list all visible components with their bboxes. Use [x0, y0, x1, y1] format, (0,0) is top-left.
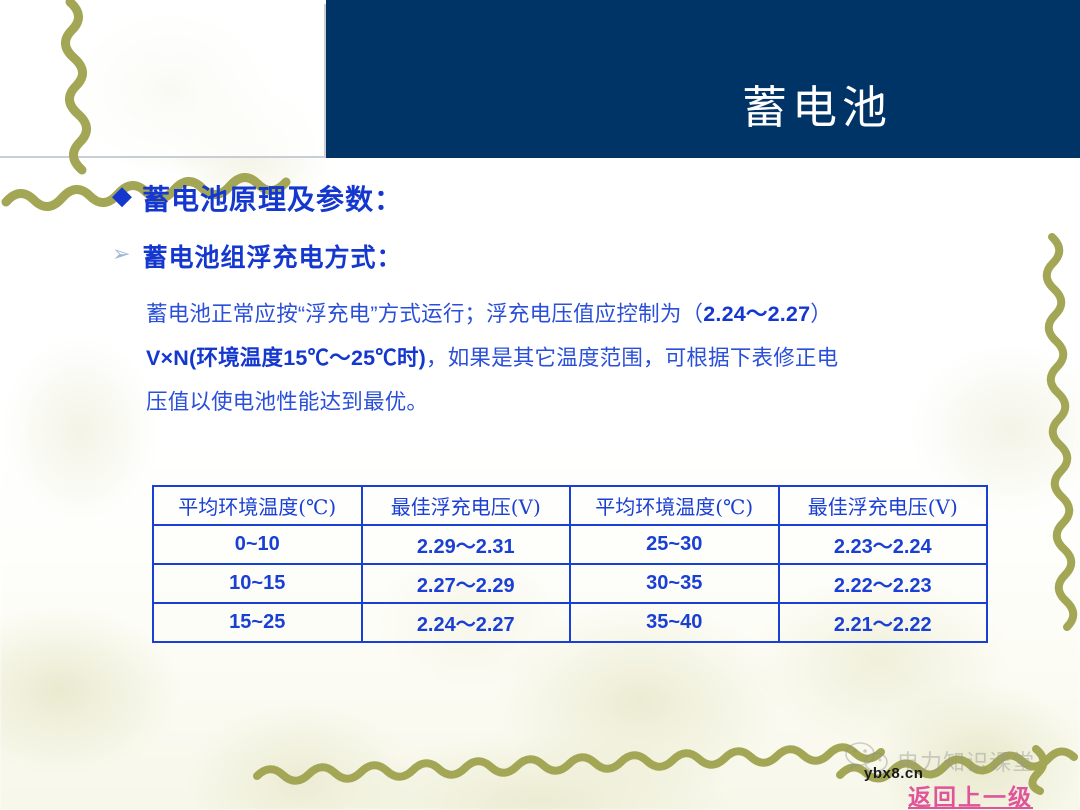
table-cell: 2.22～2.23	[779, 564, 988, 603]
table-cell: 10~15	[153, 564, 362, 603]
table-cell: 2.29～2.31	[362, 525, 571, 564]
paragraph-line-2-a: V×N(	[146, 346, 196, 370]
table-cell: 25~30	[570, 525, 779, 564]
paragraph-line-2-f: ℃时)	[375, 346, 426, 370]
slide-content: ◆ 蓄电池原理及参数： ➢ 蓄电池组浮充电方式： 蓄电池正常应按“浮充电”方式运…	[0, 158, 1080, 424]
back-link[interactable]: 返回上一级	[908, 778, 1033, 810]
paragraph-line-2-c: 15	[283, 346, 307, 370]
paragraph-line-2-e: 25	[351, 346, 375, 370]
paragraph-line-2: V×N(环境温度15℃～25℃时)，如果是其它温度范围，可根据下表修正电	[146, 336, 1042, 380]
voltage-range-highlight: 2.24～2.27	[703, 302, 810, 326]
arrow-bullet-icon: ➢	[112, 243, 130, 265]
paragraph-line-1-c: ）	[810, 302, 832, 326]
slide-canvas: 蓄电池 ◆ 蓄电池原理及参数： ➢ 蓄电池组浮充电方式： 蓄电池正常应按“浮充电…	[0, 0, 1080, 810]
table-header-cell: 平均环境温度(℃)	[153, 486, 362, 525]
table-cell: 30~35	[570, 564, 779, 603]
heading-level1: ◆ 蓄电池原理及参数：	[112, 178, 1080, 218]
voltage-table-wrapper: 平均环境温度(℃) 最佳浮充电压(V) 平均环境温度(℃) 最佳浮充电压(V) …	[152, 485, 988, 643]
paragraph-line-1: 蓄电池正常应按“浮充电”方式运行；浮充电压值应控制为（2.24～2.27）	[146, 292, 1042, 336]
table-cell: 0~10	[153, 525, 362, 564]
table-header-cell: 最佳浮充电压(V)	[362, 486, 571, 525]
vine-bottom-edge-icon	[255, 760, 905, 790]
title-banner: 蓄电池	[326, 0, 1080, 158]
table-row: 15~25 2.24～2.27 35~40 2.21～2.22	[153, 603, 987, 642]
corner-decor-panel	[0, 4, 326, 158]
paragraph-line-1-a: 蓄电池正常应按“浮充电”方式运行；浮充电压值应控制为（	[146, 302, 703, 326]
table-row: 10~15 2.27～2.29 30~35 2.22～2.23	[153, 564, 987, 603]
voltage-correction-table: 平均环境温度(℃) 最佳浮充电压(V) 平均环境温度(℃) 最佳浮充电压(V) …	[152, 485, 988, 643]
table-header-row: 平均环境温度(℃) 最佳浮充电压(V) 平均环境温度(℃) 最佳浮充电压(V)	[153, 486, 987, 525]
body-paragraph: 蓄电池正常应按“浮充电”方式运行；浮充电压值应控制为（2.24～2.27） V×…	[146, 292, 1042, 424]
diamond-bullet-icon: ◆	[112, 182, 132, 208]
paragraph-line-2-g: ，如果是其它温度范围，可根据下表修正电	[426, 346, 838, 370]
table-cell: 2.24～2.27	[362, 603, 571, 642]
table-cell: 35~40	[570, 603, 779, 642]
heading-level1-label: 蓄电池原理及参数：	[142, 178, 403, 218]
table-cell: 2.21～2.22	[779, 603, 988, 642]
page-title: 蓄电池	[742, 71, 892, 136]
table-cell: 2.23～2.24	[779, 525, 988, 564]
table-header-cell: 平均环境温度(℃)	[570, 486, 779, 525]
table-cell: 15~25	[153, 603, 362, 642]
table-row: 0~10 2.29～2.31 25~30 2.23～2.24	[153, 525, 987, 564]
paragraph-line-2-d: ℃～	[308, 346, 351, 370]
heading-level2: ➢ 蓄电池组浮充电方式：	[112, 238, 1080, 274]
paragraph-line-3: 压值以使电池性能达到最优。	[146, 380, 1042, 424]
heading-level2-label: 蓄电池组浮充电方式：	[142, 238, 402, 274]
paragraph-line-2-b: 环境温度	[196, 346, 283, 370]
table-header-cell: 最佳浮充电压(V)	[779, 486, 988, 525]
table-cell: 2.27～2.29	[362, 564, 571, 603]
